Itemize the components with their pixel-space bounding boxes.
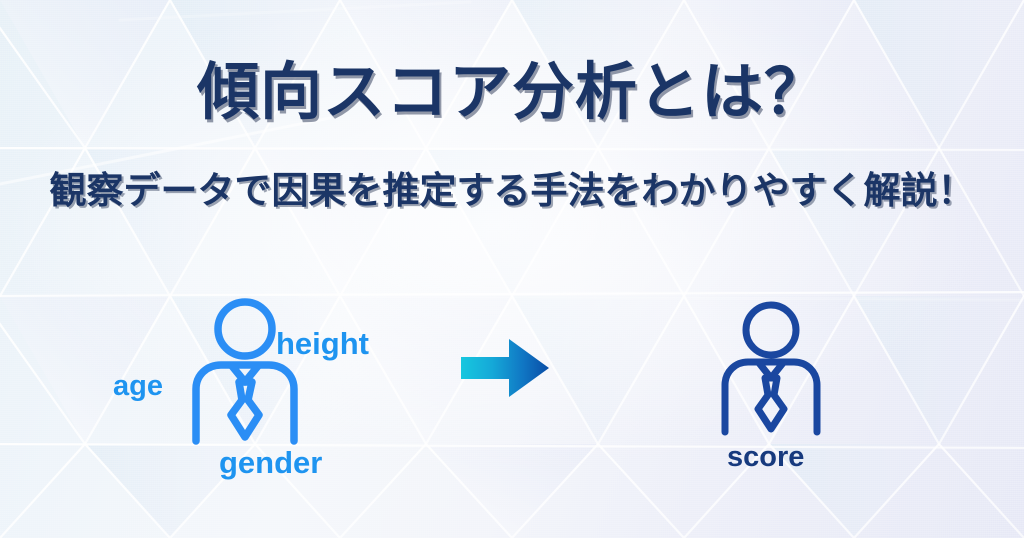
slide-canvas: 傾向スコア分析とは？ 観察データで因果を推定する手法をわかりやすく解説！ age…	[0, 0, 1024, 538]
page-subtitle: 観察データで因果を推定する手法をわかりやすく解説！	[0, 172, 1024, 209]
label-age: age	[113, 372, 163, 401]
score-person-icon	[716, 300, 826, 436]
covariates-person-icon	[186, 296, 304, 446]
right-arrow-icon	[461, 337, 551, 399]
label-height: height	[276, 328, 369, 359]
label-score: score	[727, 443, 804, 472]
label-gender: gender	[219, 447, 322, 478]
page-title: 傾向スコア分析とは？	[0, 62, 1024, 124]
